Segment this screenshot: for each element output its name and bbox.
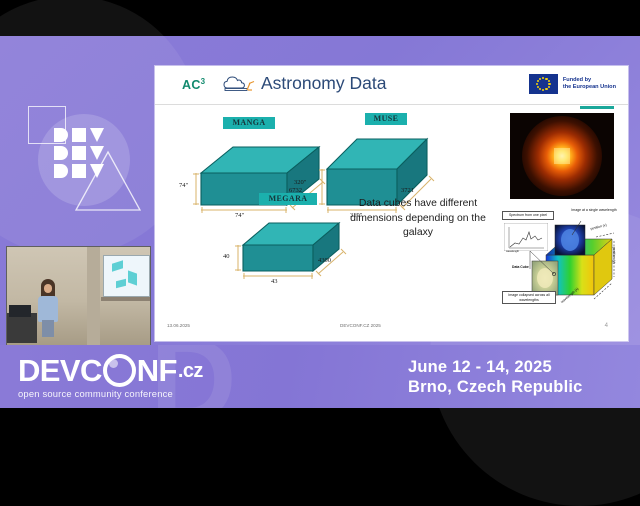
lectern bbox=[7, 313, 37, 343]
speaker-video-thumbnail[interactable] bbox=[6, 246, 151, 346]
logo-tagline: open source community conference bbox=[18, 388, 203, 399]
event-date: June 12 - 14, 2025 bbox=[408, 357, 583, 377]
devconf-logo-mark bbox=[8, 92, 158, 222]
presenter-face bbox=[44, 284, 52, 293]
ac3-logo-text: AC3 bbox=[182, 77, 205, 92]
eu-funding-text: Funded by the European Union bbox=[563, 77, 616, 92]
screenshot-root: AC3 Astronomy Data Funded by the Europea… bbox=[0, 0, 640, 480]
footer-date: 13.06.2025 bbox=[167, 323, 190, 328]
letter-e-glyph bbox=[72, 146, 86, 160]
cube-megara: MEGARA 40 43 4300 bbox=[223, 193, 363, 303]
label-spectrum-from-one-pixel: Spectrum from one pixel bbox=[502, 211, 554, 220]
event-location: Brno, Czech Republic bbox=[408, 377, 583, 397]
event-details: June 12 - 14, 2025 Brno, Czech Republic bbox=[408, 357, 583, 397]
presenter-figure bbox=[37, 279, 59, 335]
slide-header: AC3 Astronomy Data Funded by the Europea… bbox=[155, 66, 628, 105]
galaxy-heatmap-image bbox=[510, 113, 614, 199]
devconf-wordmark: DEVC NF .cz open source community confer… bbox=[18, 354, 203, 399]
letter-d-glyph bbox=[54, 128, 68, 142]
logo-letter-grid bbox=[54, 128, 104, 178]
laptop bbox=[9, 305, 31, 317]
eu-funding-badge: Funded by the European Union bbox=[529, 74, 616, 94]
projection-screen bbox=[103, 255, 150, 297]
screen-ledge bbox=[101, 297, 150, 301]
cube-dim-depth-megara: 4300 bbox=[318, 257, 331, 264]
footer-page-number: 4 bbox=[605, 323, 608, 329]
eu-flag-icon bbox=[529, 74, 558, 94]
wall-column bbox=[87, 247, 100, 345]
letter-v-glyph bbox=[90, 146, 104, 160]
eu-star bbox=[542, 77, 544, 79]
cube-dim-width-megara: 43 bbox=[271, 278, 278, 285]
eu-star bbox=[548, 86, 550, 88]
eu-star bbox=[539, 88, 541, 90]
eu-star bbox=[548, 80, 550, 82]
slide-body: MANGA 74" 74" 6732 MUSE bbox=[155, 105, 628, 317]
logo-text-nf: NF bbox=[137, 355, 177, 387]
logo-o-icon bbox=[103, 354, 136, 387]
galaxy-center-pixel bbox=[554, 148, 570, 164]
devconf-logo-row: DEVC NF .cz bbox=[18, 354, 203, 387]
axis-label-position-y: position (y) bbox=[612, 247, 616, 264]
mini-cube bbox=[112, 260, 123, 272]
eu-star bbox=[536, 83, 538, 85]
presenter-shirt bbox=[38, 296, 58, 322]
letter-d-glyph bbox=[54, 164, 68, 178]
eu-star bbox=[537, 80, 539, 82]
spectrum-plot bbox=[504, 223, 548, 251]
eu-star bbox=[545, 88, 547, 90]
letter-e-glyph bbox=[72, 164, 86, 178]
cube-dim-height-muse: 320" bbox=[294, 179, 306, 186]
letter-d-glyph bbox=[54, 146, 68, 160]
logo-text-devc: DEVC bbox=[18, 355, 102, 387]
eu-line-2: the European Union bbox=[563, 84, 616, 91]
letter-v-glyph bbox=[90, 128, 104, 142]
spectrum-plot-xlabel: wavelength bbox=[506, 250, 519, 254]
eu-star bbox=[545, 78, 547, 80]
cube-dim-height-manga: 74" bbox=[179, 182, 188, 189]
mini-cube bbox=[116, 279, 126, 288]
mini-cube bbox=[128, 270, 137, 285]
conference-bottom-bar: D DEVC NF .cz open source community conf… bbox=[0, 345, 640, 408]
label-data-cube: Data Cube bbox=[512, 265, 529, 269]
letter-e-glyph bbox=[72, 128, 86, 142]
cloud-telescope-icon bbox=[221, 74, 257, 96]
eu-star bbox=[548, 83, 550, 85]
slide-footer: 13.06.2025 DEVCONF.CZ 2025 4 bbox=[155, 317, 628, 341]
label-image-collapsed: Image collapsed across all wavelengths bbox=[502, 291, 556, 304]
logo-tld: .cz bbox=[178, 355, 203, 387]
eu-star bbox=[542, 89, 544, 91]
eu-star bbox=[539, 78, 541, 80]
cube-dim-height-megara: 40 bbox=[223, 253, 230, 260]
letter-v-glyph bbox=[90, 164, 104, 178]
presenter-legs bbox=[42, 320, 54, 337]
footer-conference: DEVCONF.CZ 2025 bbox=[340, 323, 381, 328]
cube-shape-megara bbox=[223, 193, 363, 303]
presentation-slide: AC3 Astronomy Data Funded by the Europea… bbox=[155, 66, 628, 341]
slide-body-text: Data cubes have different dimensions dep… bbox=[348, 197, 488, 241]
slide-title: Astronomy Data bbox=[261, 73, 386, 94]
label-image-at-single-wavelength: Image at a single wavelength bbox=[564, 207, 624, 214]
eu-line-1: Funded by bbox=[563, 77, 616, 84]
cube-dim-depth-muse: 3721 bbox=[401, 187, 414, 194]
data-cube-diagram: Spectrum from one pixel wavelength Image… bbox=[502, 207, 620, 313]
